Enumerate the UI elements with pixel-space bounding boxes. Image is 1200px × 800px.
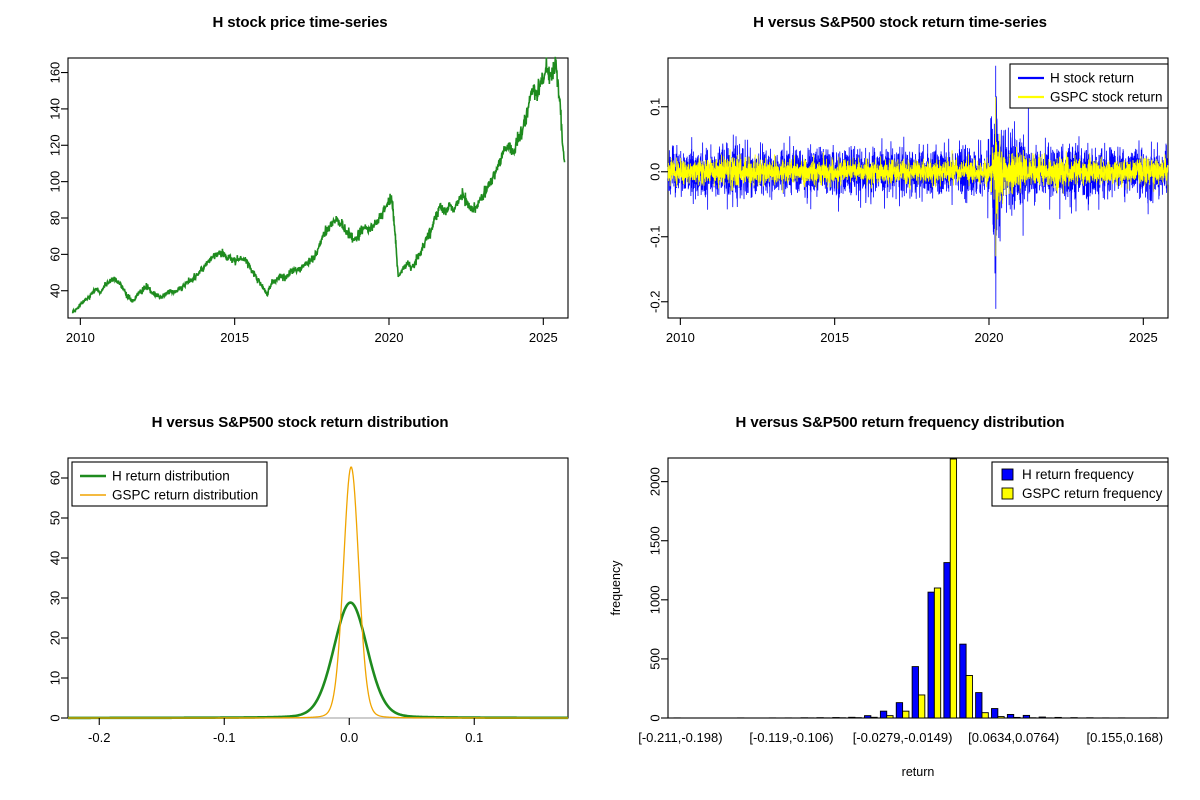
y-tick-label: 0 — [48, 714, 63, 721]
y-tick-label: 30 — [48, 591, 63, 605]
price-plot: 2010201520202025406080100120140160 — [0, 0, 600, 400]
h-bar — [1039, 717, 1045, 718]
h-bar — [1055, 717, 1061, 718]
h-bar — [896, 703, 902, 718]
legend-label: H return distribution — [112, 469, 230, 484]
gspc-return-line — [668, 97, 1168, 256]
y-tick-label: 100 — [48, 171, 63, 193]
h-bar — [944, 563, 950, 718]
y-tick-label: 40 — [48, 551, 63, 565]
histogram-plot: [-0.211,-0.198)[-0.119,-0.106)[-0.0279,-… — [600, 400, 1200, 800]
h-density-line — [68, 603, 568, 718]
h-bar — [1007, 714, 1013, 718]
panel-return-distribution: H versus S&P500 stock return distributio… — [0, 400, 600, 800]
gspc-bar — [982, 713, 988, 718]
y-tick-label: 0.0 — [648, 163, 663, 181]
price-plot-box — [68, 58, 568, 318]
y-tick-label: 40 — [48, 283, 63, 297]
y-tick-label: 60 — [48, 247, 63, 261]
gspc-bar — [998, 717, 1004, 718]
legend-label: H stock return — [1050, 71, 1134, 86]
legend-label: GSPC stock return — [1050, 90, 1163, 105]
x-tick-label: -0.1 — [213, 730, 235, 745]
y-tick-label: -0.2 — [648, 291, 663, 313]
x-tick-label: [0.0634,0.0764) — [968, 730, 1059, 745]
x-tick-label: 2025 — [1129, 330, 1158, 345]
x-tick-label: [-0.211,-0.198) — [638, 730, 722, 745]
h-bar — [991, 709, 997, 718]
x-tick-label: 0.0 — [340, 730, 358, 745]
y-tick-label: -0.1 — [648, 226, 663, 248]
x-tick-label: [0.155,0.168) — [1087, 730, 1164, 745]
x-tick-label: 2025 — [529, 330, 558, 345]
price-line — [73, 57, 565, 313]
figure-root: H stock price time-series 20102015202020… — [0, 0, 1200, 800]
y-tick-label: 0.1 — [648, 98, 663, 116]
x-axis-title: return — [902, 765, 935, 779]
y-tick-label: 80 — [48, 211, 63, 225]
panel-return-frequency: H versus S&P500 return frequency distrib… — [600, 400, 1200, 800]
legend-swatch — [1002, 469, 1013, 480]
panel-return-time-series: H versus S&P500 stock return time-series… — [600, 0, 1200, 400]
x-tick-label: 2015 — [820, 330, 849, 345]
y-tick-label: 0 — [648, 714, 663, 721]
y-tick-label: 1500 — [648, 526, 663, 555]
x-tick-label: 2020 — [375, 330, 404, 345]
h-bar — [912, 667, 918, 718]
y-tick-label: 2000 — [648, 467, 663, 496]
y-axis-title: frequency — [609, 560, 623, 616]
h-bar — [849, 717, 855, 718]
gspc-bar — [966, 675, 972, 718]
gspc-bar — [871, 717, 877, 718]
y-tick-label: 60 — [48, 471, 63, 485]
x-tick-label: [-0.0279,-0.0149) — [853, 730, 953, 745]
h-bar — [880, 711, 886, 718]
gspc-bar — [1014, 717, 1020, 718]
y-tick-label: 120 — [48, 134, 63, 156]
x-tick-label: [-0.119,-0.106) — [749, 730, 833, 745]
y-tick-label: 1000 — [648, 585, 663, 614]
y-tick-label: 160 — [48, 62, 63, 84]
legend-label: GSPC return distribution — [112, 488, 258, 503]
x-tick-label: 2010 — [66, 330, 95, 345]
gspc-bar — [918, 695, 924, 718]
legend-swatch — [1002, 488, 1013, 499]
panel-price-time-series: H stock price time-series 20102015202020… — [0, 0, 600, 400]
return-plot: 20102015202020250.10.0-0.1-0.2H stock re… — [600, 0, 1200, 400]
legend-label: H return frequency — [1022, 467, 1134, 482]
h-bar — [865, 716, 871, 718]
y-tick-label: 500 — [648, 648, 663, 670]
gspc-bar — [950, 459, 956, 718]
gspc-bar — [934, 588, 940, 718]
h-bar — [1023, 715, 1029, 718]
legend-label: GSPC return frequency — [1022, 486, 1163, 501]
y-tick-label: 50 — [48, 511, 63, 525]
x-tick-label: 2010 — [666, 330, 695, 345]
x-tick-label: -0.2 — [88, 730, 110, 745]
h-bar — [960, 644, 966, 718]
density-plot: -0.2-0.10.00.10102030405060H return dist… — [0, 400, 600, 800]
gspc-bar — [903, 711, 909, 718]
h-bar — [928, 592, 934, 718]
y-tick-label: 20 — [48, 631, 63, 645]
y-tick-label: 10 — [48, 671, 63, 685]
x-tick-label: 2015 — [220, 330, 249, 345]
x-tick-label: 2020 — [975, 330, 1004, 345]
h-bar — [976, 693, 982, 718]
y-tick-label: 140 — [48, 98, 63, 120]
x-tick-label: 0.1 — [465, 730, 483, 745]
gspc-bar — [887, 716, 893, 718]
